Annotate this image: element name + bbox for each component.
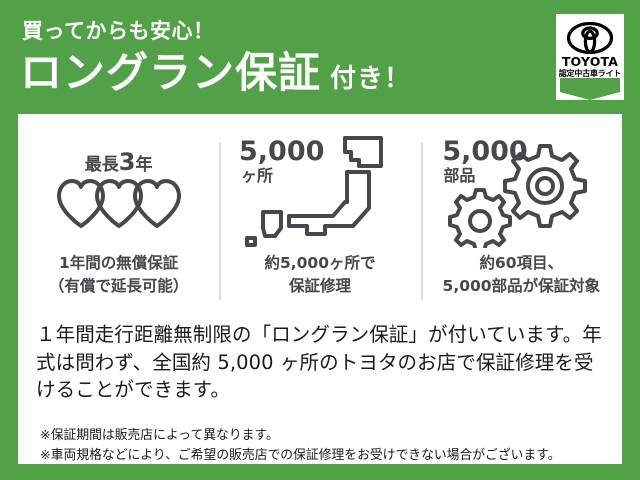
feature-caption-line: 1年間の無償保証: [49, 252, 189, 275]
toyota-emblem-icon: [567, 22, 613, 58]
feature-column-warranty-period: 最長3年 1年間の無償保証 （有償で延長可能: [18, 128, 219, 320]
feature-caption-line: 約5,000ヶ所で: [264, 252, 375, 275]
feature-caption-line: （有償で延長可能）: [49, 275, 189, 298]
toyota-logo: TOYOTA 認定中古車ライト: [556, 14, 624, 100]
feature-artwork: 5,000 部品: [426, 128, 616, 250]
three-hearts-icon: [55, 176, 183, 234]
logo-chevron-shape: [556, 78, 624, 100]
content-panel: 最長3年 1年間の無償保証 （有償で延長可能: [18, 114, 622, 464]
feature-column-covered-parts: 5,000 部品 約60項目、 5,000部品が保証対象: [421, 128, 622, 320]
header-title-main: ロングラン保証: [20, 52, 321, 94]
warranty-banner: 買ってからも安心！ ロングラン保証 付き！ TOYOTA 認定中古車ライト: [0, 0, 640, 480]
feature-caption-line: 保証修理: [264, 275, 375, 298]
feature-headline-unit: 部品: [443, 168, 475, 184]
header-title: ロングラン保証 付き！: [20, 52, 411, 94]
header-title-suffix: 付き！: [330, 66, 411, 92]
feature-headline-number: 最長3年: [85, 150, 153, 174]
footnote-item: ※車両規格などにより、ご希望の販売店での保証修理をお受けできない場合がございます…: [40, 446, 620, 466]
feature-columns: 最長3年 1年間の無償保証 （有償で延長可能: [18, 128, 622, 320]
footnote-item: ※保証期間は販売店によって異なります。: [40, 426, 620, 446]
feature-headline-unit: ヶ所: [241, 168, 273, 184]
feature-caption-line: 5,000部品が保証対象: [443, 275, 601, 298]
feature-caption: 1年間の無償保証 （有償で延長可能）: [49, 252, 189, 299]
feature-artwork: 5,000 ヶ所: [225, 128, 415, 250]
header-kicker: 買ってからも安心！: [22, 21, 214, 42]
feature-number-emphasis: 3: [119, 148, 136, 176]
feature-number-tail: 年: [136, 155, 153, 175]
feature-caption: 約5,000ヶ所で 保証修理: [264, 252, 375, 299]
footnotes: ※保証期間は販売店によって異なります。 ※車両規格などにより、ご希望の販売店での…: [40, 426, 620, 466]
feature-caption: 約60項目、 5,000部品が保証対象: [443, 252, 601, 299]
toyota-logo-subtitle: 認定中古車ライト: [556, 70, 624, 78]
feature-artwork: 最長3年: [24, 128, 214, 250]
banner-header: 買ってからも安心！ ロングラン保証 付き！ TOYOTA 認定中古車ライト: [0, 0, 640, 114]
feature-headline-number: 5,000: [442, 138, 527, 165]
feature-caption-line: 約60項目、: [443, 252, 601, 275]
toyota-wordmark: TOYOTA: [556, 56, 624, 69]
feature-number-prefix: 最長: [85, 155, 119, 175]
feature-headline-number: 5,000: [239, 138, 324, 165]
body-paragraph: １年間走行距離無制限の「ロングラン保証」が付いています。年式は問わず、全国約 5…: [36, 321, 608, 404]
feature-column-service-locations: 5,000 ヶ所 約5,000ヶ所で 保証修理: [219, 128, 420, 320]
